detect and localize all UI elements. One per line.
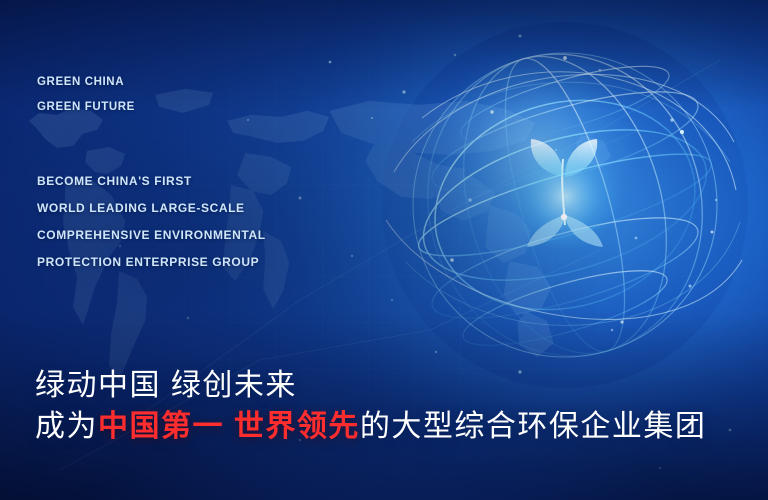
chinese-headline-line-2: 成为中国第一 世界领先的大型综合环保企业集团 [35,406,706,448]
english-claim-line-2: WORLD LEADING LARGE-SCALE [37,195,266,222]
chinese-headline-line-1: 绿动中国 绿创未来 [35,366,706,406]
chinese-headline-suffix: 的大型综合环保企业集团 [360,410,707,443]
chinese-headline-highlight: 中国第一 世界领先 [98,410,360,443]
english-claim-block: BECOME CHINA'S FIRST WORLD LEADING LARGE… [37,168,266,276]
hero-banner: GREEN CHINA GREEN FUTURE BECOME CHINA'S … [0,0,768,500]
english-copy-block: GREEN CHINA GREEN FUTURE BECOME CHINA'S … [37,70,266,276]
english-tagline-line-2: GREEN FUTURE [37,95,266,120]
english-claim-line-4: PROTECTION ENTERPRISE GROUP [37,249,266,276]
english-claim-line-3: COMPREHENSIVE ENVIRONMENTAL [37,222,266,249]
chinese-headline-block: 绿动中国 绿创未来 成为中国第一 世界领先的大型综合环保企业集团 [35,366,706,448]
english-tagline-line-1: GREEN CHINA [37,70,266,95]
chinese-headline-prefix: 成为 [35,410,98,443]
english-claim-line-1: BECOME CHINA'S FIRST [37,168,266,195]
